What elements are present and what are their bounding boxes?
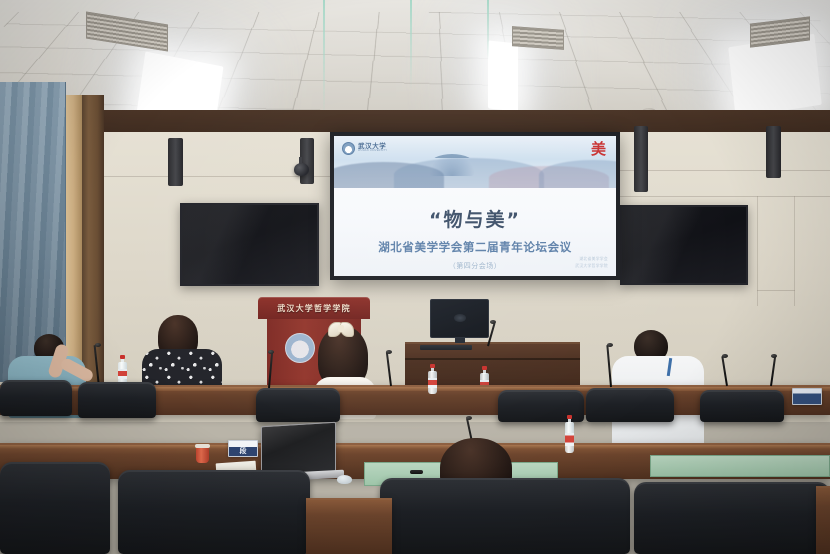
drawer-handle xyxy=(410,470,423,474)
logo-name-en: WUHAN UNIVERSITY xyxy=(358,150,387,153)
chair-foreground xyxy=(0,462,110,554)
slide-text-block: “物与美” 湖北省美学学会第二届青年论坛会议 （第四分会场） xyxy=(334,191,616,276)
ceiling-light-panel xyxy=(728,34,822,118)
wall-seam xyxy=(757,290,795,291)
keyboard xyxy=(420,345,472,350)
wall-speaker-right xyxy=(766,126,781,178)
pagoda-illustration xyxy=(429,154,475,176)
microphone-head xyxy=(771,354,777,358)
name-placard-front: 段 xyxy=(228,440,258,457)
microphone-head xyxy=(490,320,496,324)
hvac-vent xyxy=(512,26,564,50)
chair xyxy=(256,388,340,422)
lens-flare-streak xyxy=(323,0,325,120)
microphone-head xyxy=(607,343,613,347)
water-bottle xyxy=(118,355,127,385)
chair xyxy=(78,382,156,418)
wall-speaker-left-inner xyxy=(300,138,314,184)
desk-row-front xyxy=(306,498,392,554)
chair-foreground xyxy=(118,470,310,554)
wall-display-left xyxy=(180,203,319,286)
organizer-line-2: 武汉大学哲学学院 xyxy=(575,263,608,269)
wall-display-right xyxy=(620,205,748,285)
bottle-label xyxy=(428,378,437,388)
wall-speaker-right-inner xyxy=(634,126,648,192)
name-placard-right xyxy=(792,388,822,405)
podium-emblem-icon xyxy=(285,333,315,363)
slide-title: “物与美” xyxy=(429,205,521,232)
microphone-head xyxy=(268,350,274,354)
microphone-head xyxy=(722,354,728,358)
chair xyxy=(0,380,72,416)
monitor-stand xyxy=(455,338,465,343)
ceiling-camera-icon xyxy=(294,163,309,176)
desktop-monitor xyxy=(430,299,489,338)
microphone-head xyxy=(95,343,101,347)
chair-foreground xyxy=(380,478,630,554)
chair xyxy=(700,390,784,422)
water-bottle xyxy=(428,364,437,394)
bottle-label xyxy=(565,433,574,446)
presentation-slide: 武汉大学 WUHAN UNIVERSITY 美 “物与美” 湖北省美学学会第二届… xyxy=(334,136,616,276)
podium-label: 武汉大学哲学学院 xyxy=(277,303,351,314)
microphone-head xyxy=(466,416,472,420)
desk-edge xyxy=(0,445,830,449)
computer-mouse xyxy=(337,475,352,484)
ceiling-light-panel xyxy=(488,40,518,111)
wall-seam xyxy=(620,170,830,171)
conference-room-photo: 武汉大学 WUHAN UNIVERSITY 美 “物与美” 湖北省美学学会第二届… xyxy=(0,0,830,554)
beauty-seal-icon: 美 xyxy=(591,142,606,157)
laptop-screen xyxy=(261,422,336,477)
projection-screen: 武汉大学 WUHAN UNIVERSITY 美 “物与美” 湖北省美学学会第二届… xyxy=(330,132,620,280)
bottle-label xyxy=(118,369,127,379)
hair-bow xyxy=(328,322,354,335)
bow-knot xyxy=(338,325,344,332)
podium-top: 武汉大学哲学学院 xyxy=(258,297,370,319)
wall-speaker-left xyxy=(168,138,183,186)
wall-seam xyxy=(620,196,830,197)
slide-university-logo: 武汉大学 WUHAN UNIVERSITY xyxy=(342,142,387,155)
ink-wash-hill xyxy=(539,160,616,188)
desk-row-front-right xyxy=(816,486,830,554)
desk-front-panel xyxy=(650,455,830,477)
chair-foreground xyxy=(634,482,830,554)
university-emblem-icon xyxy=(342,142,355,155)
slide-organizer-credits: 湖北省美学学会 武汉大学哲学学院 xyxy=(575,256,608,269)
slide-subtitle: 湖北省美学学会第二届青年论坛会议 xyxy=(378,239,572,255)
microphone-head xyxy=(386,350,392,354)
paper-cup xyxy=(196,446,209,463)
organizer-line-1: 湖北省美学学会 xyxy=(575,256,608,262)
placard-text: 段 xyxy=(240,446,247,456)
lens-flare-streak xyxy=(410,0,412,90)
lens-flare-streak xyxy=(487,0,489,60)
wood-pillar-left-dark xyxy=(82,95,104,395)
water-bottle xyxy=(565,415,574,453)
chair xyxy=(586,388,674,422)
slide-session-label: （第四分会场） xyxy=(449,261,502,271)
